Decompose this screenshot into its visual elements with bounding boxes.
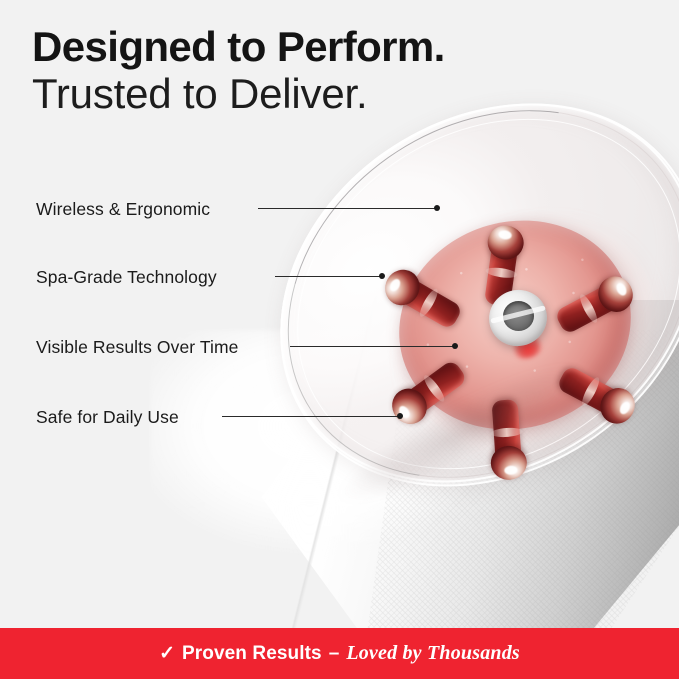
feature-label: Safe for Daily Use [36, 407, 179, 428]
leader-line [290, 346, 455, 347]
check-icon: ✓ [159, 644, 175, 663]
feature-item-spa-grade-technology: Spa-Grade Technology [36, 267, 217, 288]
feature-label: Visible Results Over Time [36, 337, 239, 358]
feature-callout-list: Wireless & Ergonomic Spa-Grade Technolog… [0, 0, 679, 679]
feature-label: Wireless & Ergonomic [36, 199, 210, 220]
feature-item-safe-daily-use: Safe for Daily Use [36, 407, 179, 428]
leader-dot [434, 205, 440, 211]
banner-dash: – [329, 643, 340, 665]
product-feature-image: Designed to Perform. Trusted to Deliver.… [0, 0, 679, 679]
banner-bold-text: Proven Results [182, 643, 322, 665]
leader-dot [379, 273, 385, 279]
feature-item-wireless-ergonomic: Wireless & Ergonomic [36, 199, 210, 220]
leader-dot [452, 343, 458, 349]
feature-label: Spa-Grade Technology [36, 267, 217, 288]
feature-item-visible-results: Visible Results Over Time [36, 337, 239, 358]
banner-italic-text: Loved by Thousands [346, 642, 520, 665]
leader-line [275, 276, 382, 277]
leader-line [258, 208, 437, 209]
leader-line [222, 416, 400, 417]
bottom-banner: ✓ Proven Results – Loved by Thousands [0, 628, 679, 679]
leader-dot [397, 413, 403, 419]
banner-content: ✓ Proven Results – Loved by Thousands [159, 642, 520, 665]
